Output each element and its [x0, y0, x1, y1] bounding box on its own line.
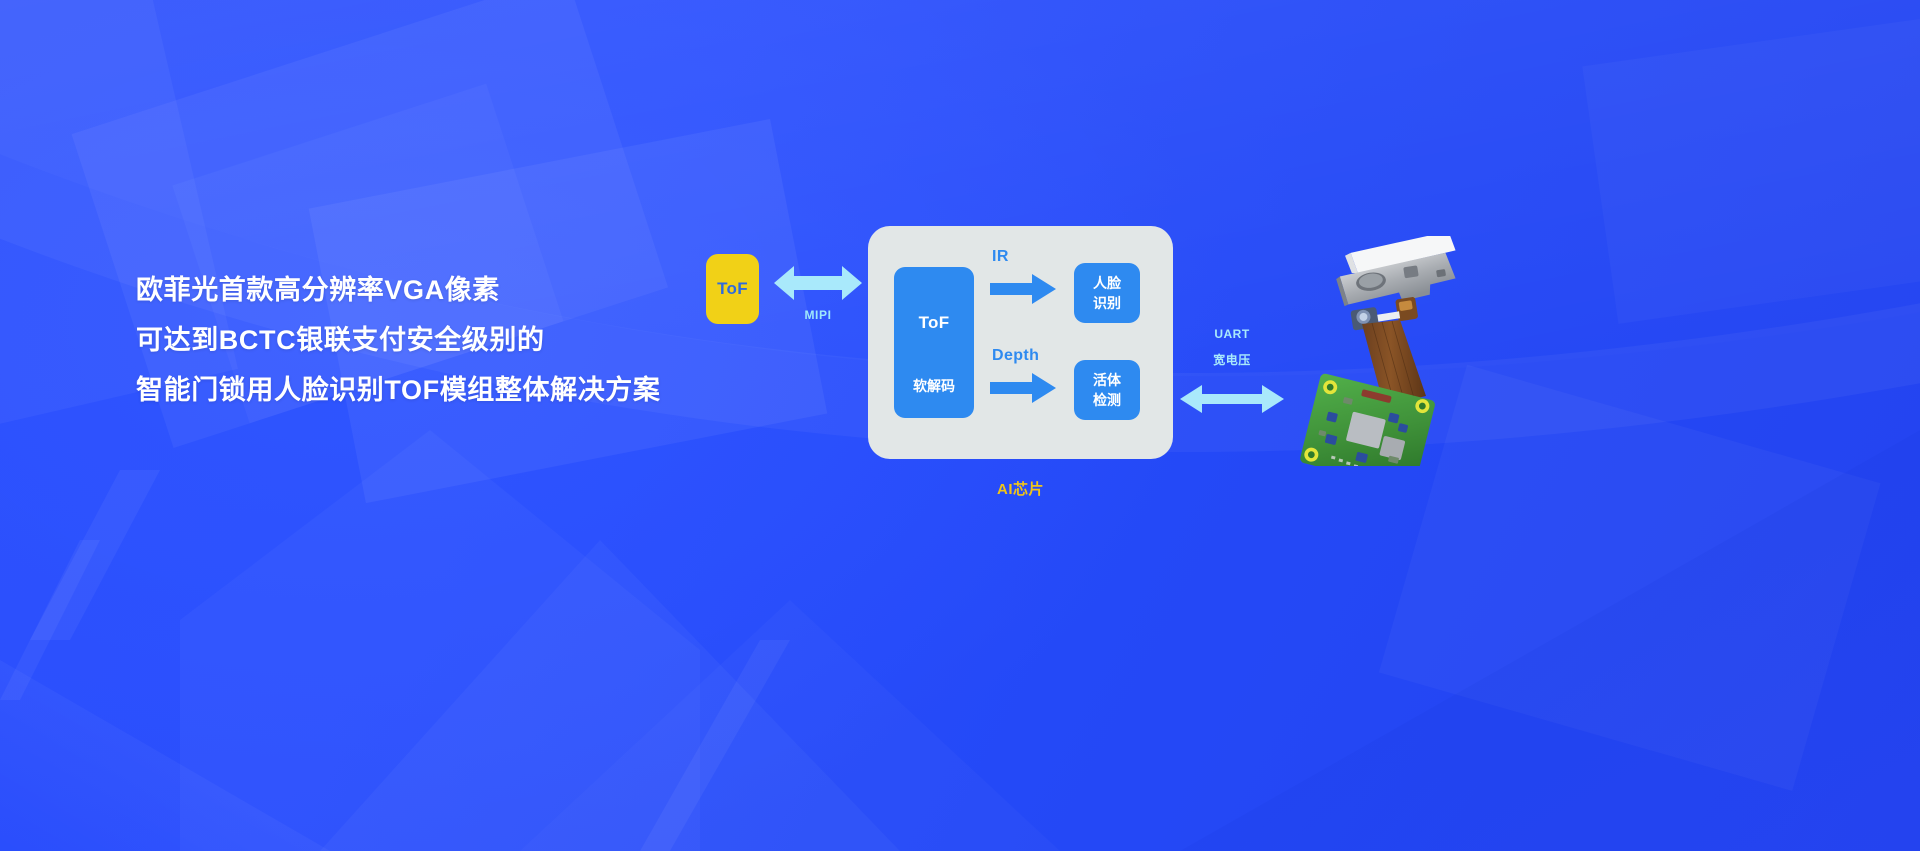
signal-label-depth: Depth	[992, 347, 1039, 365]
face-recognition-line-2: 识别	[1093, 293, 1121, 313]
tof-sensor-label: ToF	[717, 279, 748, 299]
tof-decode-block: ToF 软解码	[894, 267, 974, 418]
double-headed-arrow-icon	[774, 262, 862, 304]
uart-link-group: UART 宽电压	[1180, 327, 1284, 417]
result-block-liveness-detection: 活体 检测	[1074, 360, 1140, 420]
uart-label: UART	[1180, 327, 1284, 341]
wide-voltage-label: 宽电压	[1180, 351, 1284, 368]
tof-decode-title: ToF	[894, 313, 974, 333]
ai-chip-container: ToF 软解码 IR 人脸 识别 Depth 活体	[868, 226, 1173, 459]
double-headed-arrow-icon-uart	[1180, 382, 1284, 416]
tof-module-hardware-photo	[1300, 236, 1500, 466]
right-arrow-icon-ir	[990, 274, 1056, 304]
ai-chip-caption: AI芯片	[868, 478, 1173, 499]
mipi-label: MIPI	[774, 308, 862, 322]
right-arrow-icon-depth	[990, 373, 1056, 403]
banner-root: 欧菲光首款高分辨率VGA像素 可达到BCTC银联支付安全级别的 智能门锁用人脸识…	[0, 0, 1920, 851]
tof-decode-subtitle: 软解码	[894, 376, 974, 396]
result-block-face-recognition: 人脸 识别	[1074, 263, 1140, 323]
mipi-link-group: MIPI	[774, 262, 862, 332]
face-recognition-line-1: 人脸	[1093, 273, 1121, 293]
solution-diagram: ToF MIPI ToF 软解码 IR	[0, 0, 1920, 851]
liveness-line-1: 活体	[1093, 370, 1121, 390]
tof-sensor-block: ToF	[706, 254, 759, 324]
liveness-line-2: 检测	[1093, 390, 1121, 410]
signal-label-ir: IR	[992, 248, 1009, 266]
